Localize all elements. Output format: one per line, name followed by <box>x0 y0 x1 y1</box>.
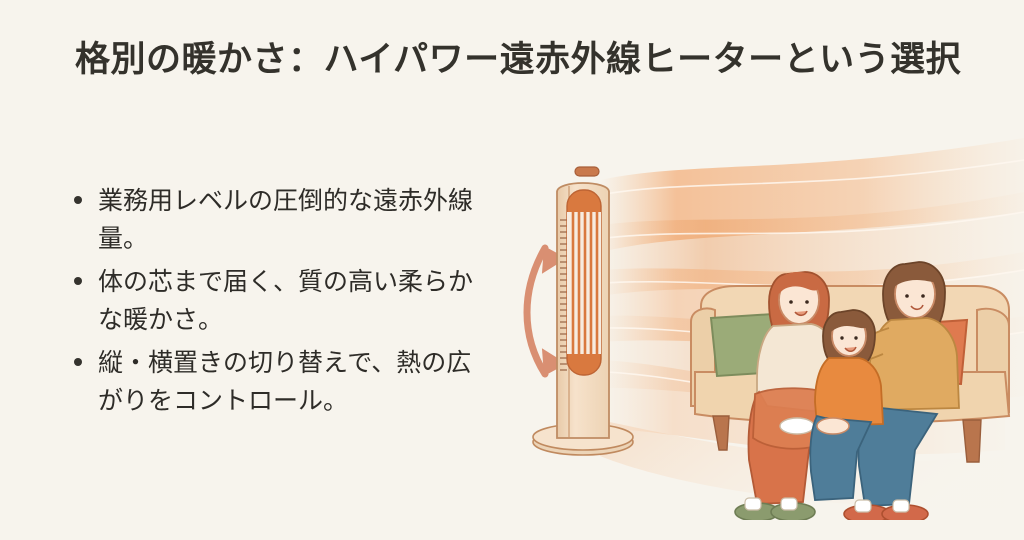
bullet-text: 業務用レベルの圧倒的な遠赤外線量。 <box>98 187 473 253</box>
bullet-dot-icon <box>74 196 82 204</box>
bullet-dot-icon <box>74 358 82 366</box>
bullet-text: 縦・横置きの切り替えで、熱の広がりをコントロール。 <box>98 349 471 415</box>
bullet-dot-icon <box>74 277 82 285</box>
list-item: 業務用レベルの圧倒的な遠赤外線量。 <box>68 182 488 258</box>
heater-display-indicator <box>575 167 599 176</box>
slide-canvas: 格別の暖かさ：ハイパワー遠赤外線ヒーターという選択 業務用レベルの圧倒的な遠赤外… <box>0 0 1024 540</box>
page-title: 格別の暖かさ：ハイパワー遠赤外線ヒーターという選択 <box>75 38 965 82</box>
list-item: 縦・横置きの切り替えで、熱の広がりをコントロール。 <box>68 344 488 420</box>
bullet-list: 業務用レベルの圧倒的な遠赤外線量。 体の芯まで届く、質の高い柔らかな暖かさ。 縦… <box>68 182 488 425</box>
list-item: 体の芯まで届く、質の高い柔らかな暖かさ。 <box>68 263 488 339</box>
bullet-text: 体の芯まで届く、質の高い柔らかな暖かさ。 <box>98 268 473 334</box>
illustration-heater-and-family <box>505 120 1024 520</box>
